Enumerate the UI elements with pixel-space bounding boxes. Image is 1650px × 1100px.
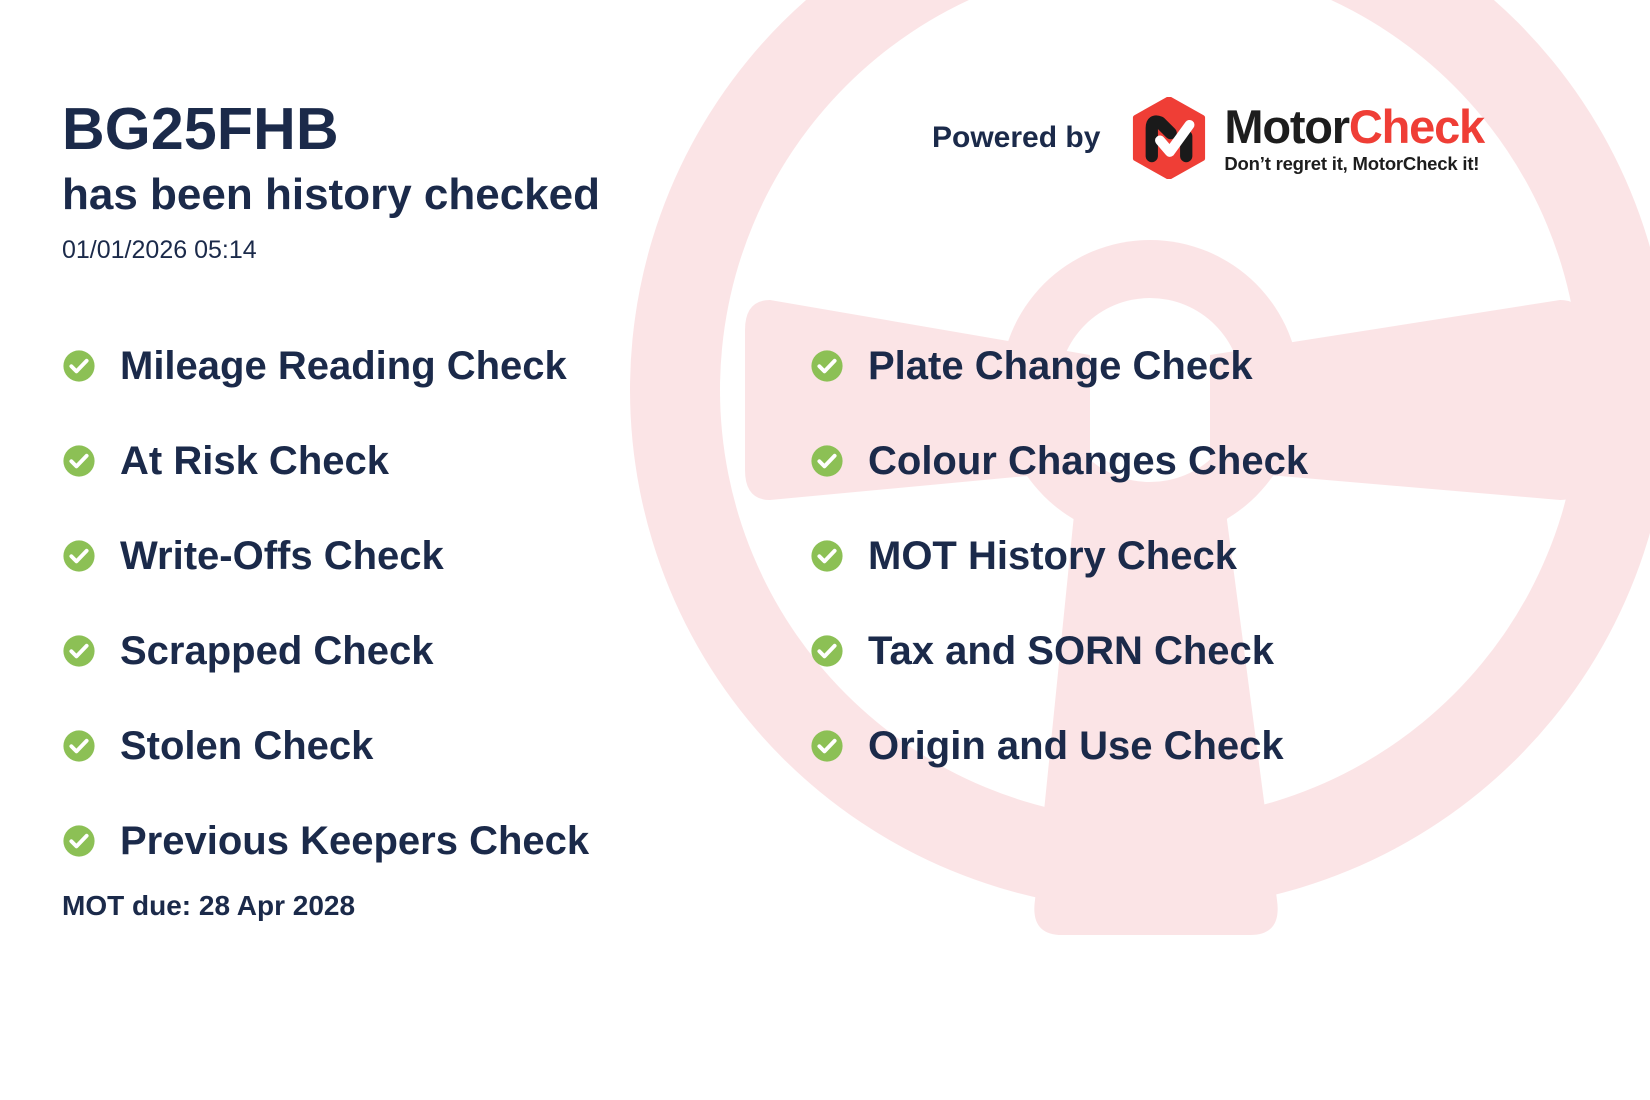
green-check-circle-icon — [62, 634, 96, 668]
green-check-circle-icon — [62, 539, 96, 573]
checklist-item: At Risk Check — [62, 413, 782, 508]
checklist-item-label: At Risk Check — [120, 441, 389, 481]
green-check-circle-icon — [62, 729, 96, 763]
checklist-item: Plate Change Check — [810, 318, 1590, 413]
registration-plate: BG25FHB — [62, 100, 339, 159]
green-check-circle-icon — [810, 729, 844, 763]
checklist-item: MOT History Check — [810, 508, 1590, 603]
green-check-circle-icon — [810, 349, 844, 383]
powered-by-brand: Powered by MotorCheck Don’t regret it, M… — [932, 97, 1484, 179]
checklist-item-label: Mileage Reading Check — [120, 346, 567, 386]
green-check-circle-icon — [810, 634, 844, 668]
checklist-item: Write-Offs Check — [62, 508, 782, 603]
checklist-item-label: Previous Keepers Check — [120, 821, 589, 861]
green-check-circle-icon — [810, 444, 844, 478]
checklist-item-label: Colour Changes Check — [868, 441, 1308, 481]
checklist-item: Mileage Reading Check — [62, 318, 782, 413]
green-check-circle-icon — [62, 349, 96, 383]
checklist-item-label: Tax and SORN Check — [868, 631, 1274, 671]
checklist-item-label: Scrapped Check — [120, 631, 433, 671]
wordmark-motor: Motor — [1224, 100, 1349, 153]
checklist-item: Scrapped Check — [62, 603, 782, 698]
checklist-item: Previous Keepers Check — [62, 793, 782, 888]
checklist-item: Colour Changes Check — [810, 413, 1590, 508]
green-check-circle-icon — [62, 444, 96, 478]
checklist-item: Tax and SORN Check — [810, 603, 1590, 698]
motorcheck-wordmark: MotorCheck Don’t regret it, MotorCheck i… — [1224, 103, 1484, 174]
checklist-item-label: Origin and Use Check — [868, 726, 1284, 766]
motorcheck-hexagon-logo-icon — [1128, 97, 1210, 179]
checklist-item: Stolen Check — [62, 698, 782, 793]
powered-by-label: Powered by — [932, 121, 1100, 155]
vehicle-history-check-card: BG25FHB has been history checked 01/01/2… — [0, 0, 1650, 1100]
mot-due-text: MOT due: 28 Apr 2028 — [62, 892, 355, 920]
green-check-circle-icon — [810, 539, 844, 573]
green-check-circle-icon — [62, 824, 96, 858]
brand-tagline: Don’t regret it, MotorCheck it! — [1224, 155, 1484, 174]
check-timestamp: 01/01/2026 05:14 — [62, 238, 257, 263]
wordmark-check: Check — [1349, 100, 1484, 153]
checklist-item-label: MOT History Check — [868, 536, 1237, 576]
checklist-item-label: Write-Offs Check — [120, 536, 444, 576]
wordmark-text: MotorCheck — [1224, 103, 1484, 150]
checklist-item-label: Plate Change Check — [868, 346, 1253, 386]
checklist-left-column: Mileage Reading CheckAt Risk CheckWrite-… — [62, 318, 782, 888]
checklist-item-label: Stolen Check — [120, 726, 373, 766]
checklist-right-column: Plate Change CheckColour Changes CheckMO… — [810, 318, 1590, 793]
checklist-item: Origin and Use Check — [810, 698, 1590, 793]
page-title: has been history checked — [62, 173, 600, 217]
motorcheck-logo[interactable]: MotorCheck Don’t regret it, MotorCheck i… — [1128, 97, 1484, 179]
